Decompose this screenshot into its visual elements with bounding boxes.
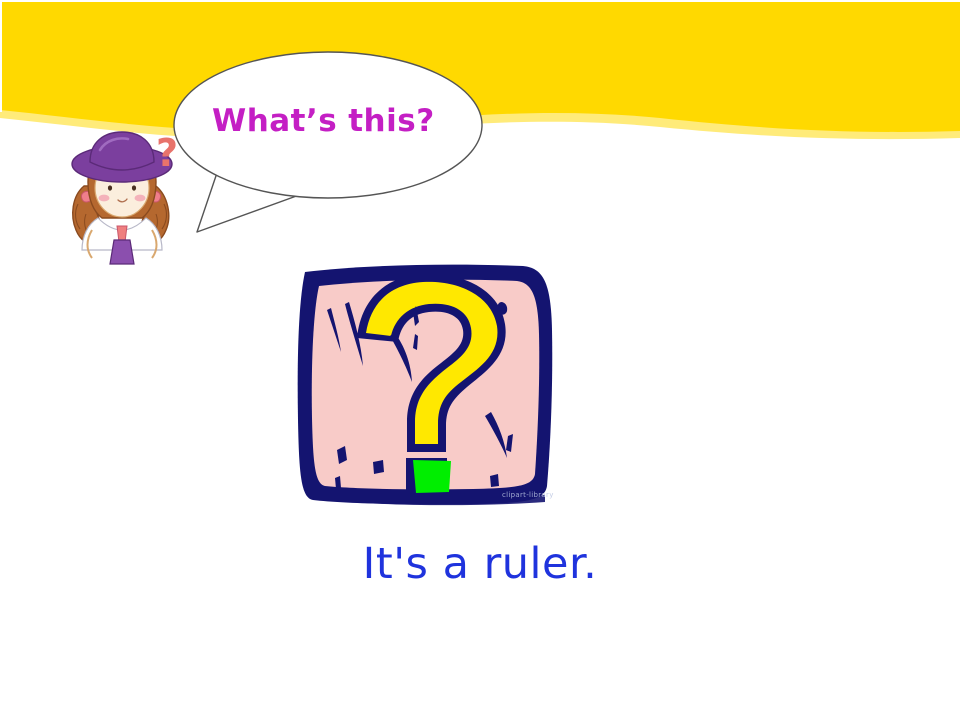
- card-watermark: clipart-library: [502, 491, 554, 499]
- speech-bubble-text-part2: this?: [348, 103, 434, 139]
- answer-caption: It's a ruler.: [0, 539, 960, 589]
- speech-bubble-text-part1: What’s: [212, 103, 337, 139]
- banner-top-margin: [0, 0, 960, 2]
- card-accent-square: [413, 460, 451, 493]
- thought-question-mark-glyph: ?: [156, 133, 178, 175]
- speech-bubble: [172, 46, 502, 241]
- girl-blush-left: [99, 195, 110, 202]
- girl-eye-left: [108, 185, 112, 190]
- girl-dress: [110, 240, 134, 264]
- slide-canvas: What’sthis?: [0, 0, 960, 720]
- question-mark-card: [295, 260, 557, 508]
- speech-bubble-text: What’sthis?: [212, 103, 474, 139]
- thought-question-mark-icon: ?: [152, 133, 186, 177]
- banner-left-margin: [0, 0, 2, 112]
- girl-eye-right: [132, 185, 136, 190]
- girl-blush-right: [135, 195, 146, 202]
